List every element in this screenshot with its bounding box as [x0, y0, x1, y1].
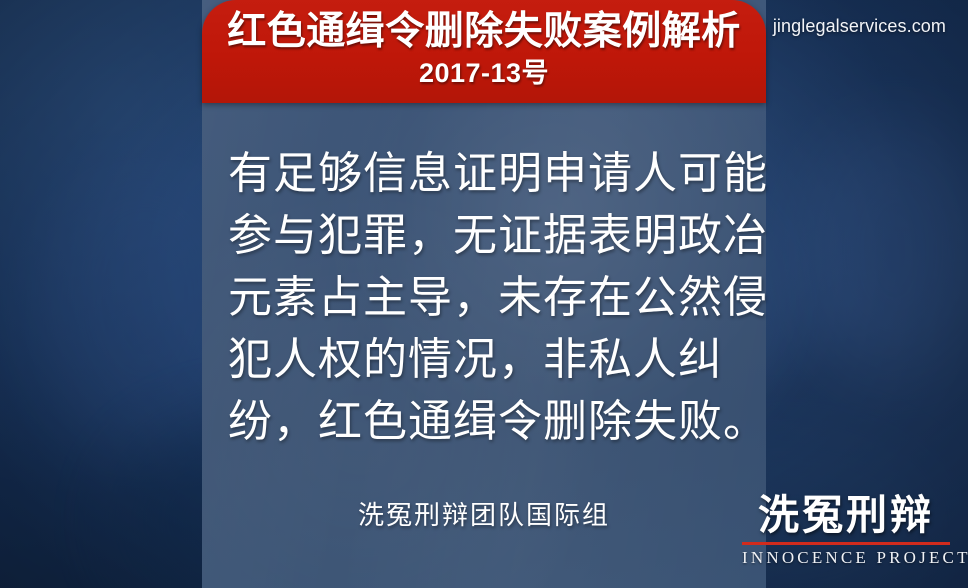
- logo-chinese-wordmark: 洗冤刑辩: [742, 492, 950, 539]
- body-text-line: 参与犯罪，无证据表明政冶: [228, 205, 744, 267]
- title-banner: 红色通缉令删除失败案例解析 2017-13号: [202, 0, 766, 103]
- site-watermark: jinglegalservices.com: [773, 16, 946, 37]
- body-text-line: 元素占主导，未存在公然侵: [228, 267, 744, 329]
- brand-logo: 洗冤刑辩 INNOCENCE PROJECT: [742, 492, 950, 568]
- poster-card: 红色通缉令删除失败案例解析 2017-13号 jinglegalservices…: [0, 0, 968, 588]
- body-text-line: 纷，红色通缉令删除失败。: [228, 391, 744, 453]
- body-text-line: 有足够信息证明申请人可能: [228, 143, 744, 205]
- body-text-block: 有足够信息证明申请人可能 参与犯罪，无证据表明政冶 元素占主导，未存在公然侵 犯…: [228, 143, 744, 453]
- logo-english-wordmark: INNOCENCE PROJECT: [742, 548, 950, 568]
- body-text-line: 犯人权的情况，非私人纠: [228, 329, 744, 391]
- banner-title: 红色通缉令删除失败案例解析: [227, 9, 741, 55]
- attribution-text: 洗冤刑辩团队国际组: [202, 495, 766, 532]
- logo-divider-rule: [742, 542, 950, 545]
- banner-subtitle: 2017-13号: [419, 57, 549, 89]
